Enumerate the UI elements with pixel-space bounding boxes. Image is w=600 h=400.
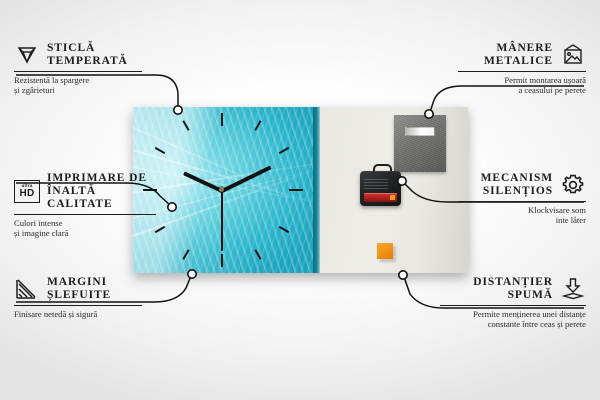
callout-desc: Permit montarea ușoară a ceasului pe per…: [458, 75, 586, 96]
callout-desc: Rezistentă la spargere și zgârieturi: [14, 75, 142, 96]
mechanism-body: [360, 171, 401, 206]
callout-polished-edges: MARGINI ȘLEFUITE Finisare netedă și sigu…: [14, 276, 142, 319]
callout-desc: Permite menținerea unei distanțe constan…: [440, 309, 586, 330]
callout-silent-mechanism: MECANISM SILENȚIOS Klockvisare som inte …: [458, 172, 586, 226]
glass-panel-edge: [313, 107, 320, 273]
callout-rule: [440, 305, 586, 306]
picture-hanger-icon: [560, 43, 586, 67]
callout-rule: [14, 71, 142, 72]
metal-hanger-plate: [394, 115, 446, 172]
spacer-arrow-icon: [560, 277, 586, 301]
mechanism-label: [364, 177, 388, 189]
callout-foam-spacer: DISTANȚIER SPUMĂ Permite menținerea unei…: [440, 276, 586, 330]
ultra-hd-icon: ultra HD: [14, 180, 40, 204]
hanger-slot: [405, 127, 435, 136]
callout-title: IMPRIMARE DE ÎNALTĂ CALITATE: [47, 172, 156, 211]
callout-desc: Culori intense și imagine clară: [14, 218, 156, 239]
aa-battery: [364, 193, 397, 202]
clock-glass-face: [133, 107, 313, 273]
foam-spacer-part: [377, 243, 393, 259]
callout-title: MECANISM SILENȚIOS: [481, 172, 553, 198]
clock-tick: [221, 113, 223, 126]
callout-rule: [14, 305, 142, 306]
clock-tick: [254, 120, 261, 131]
clock-tick: [289, 189, 303, 191]
callout-desc: Klockvisare som inte låter: [458, 205, 586, 226]
product-image: [133, 107, 468, 273]
callout-desc: Finisare netedă și sigură: [14, 309, 142, 319]
clock-tick: [279, 147, 290, 154]
ultra-hd-icon-main-label: HD: [19, 189, 34, 199]
callout-high-quality-print: ultra HD IMPRIMARE DE ÎNALTĂ CALITATE Cu…: [14, 172, 156, 239]
clock-tick: [221, 254, 223, 267]
callout-title: MÂNERE METALICE: [484, 42, 553, 68]
callout-title: DISTANȚIER SPUMĂ: [473, 276, 553, 302]
gear-icon: [560, 173, 586, 197]
callout-title: STICLĂ TEMPERATĂ: [47, 42, 128, 68]
callout-rule: [14, 214, 156, 215]
callout-rule: [458, 201, 586, 202]
beveled-edge-icon: [14, 277, 40, 301]
callout-tempered-glass: STICLĂ TEMPERATĂ Rezistentă la spargere …: [14, 42, 142, 96]
clock-tick: [279, 226, 290, 233]
callout-metal-handles: MÂNERE METALICE Permit montarea ușoară a…: [458, 42, 586, 96]
clock-second-hand: [221, 191, 223, 251]
clock-back-panel: [320, 107, 468, 273]
callout-title: MARGINI ȘLEFUITE: [47, 276, 111, 302]
callout-rule: [458, 71, 586, 72]
clock-mechanism: [360, 164, 401, 206]
clock-center-cap: [219, 187, 224, 192]
diamond-icon: [14, 43, 40, 67]
